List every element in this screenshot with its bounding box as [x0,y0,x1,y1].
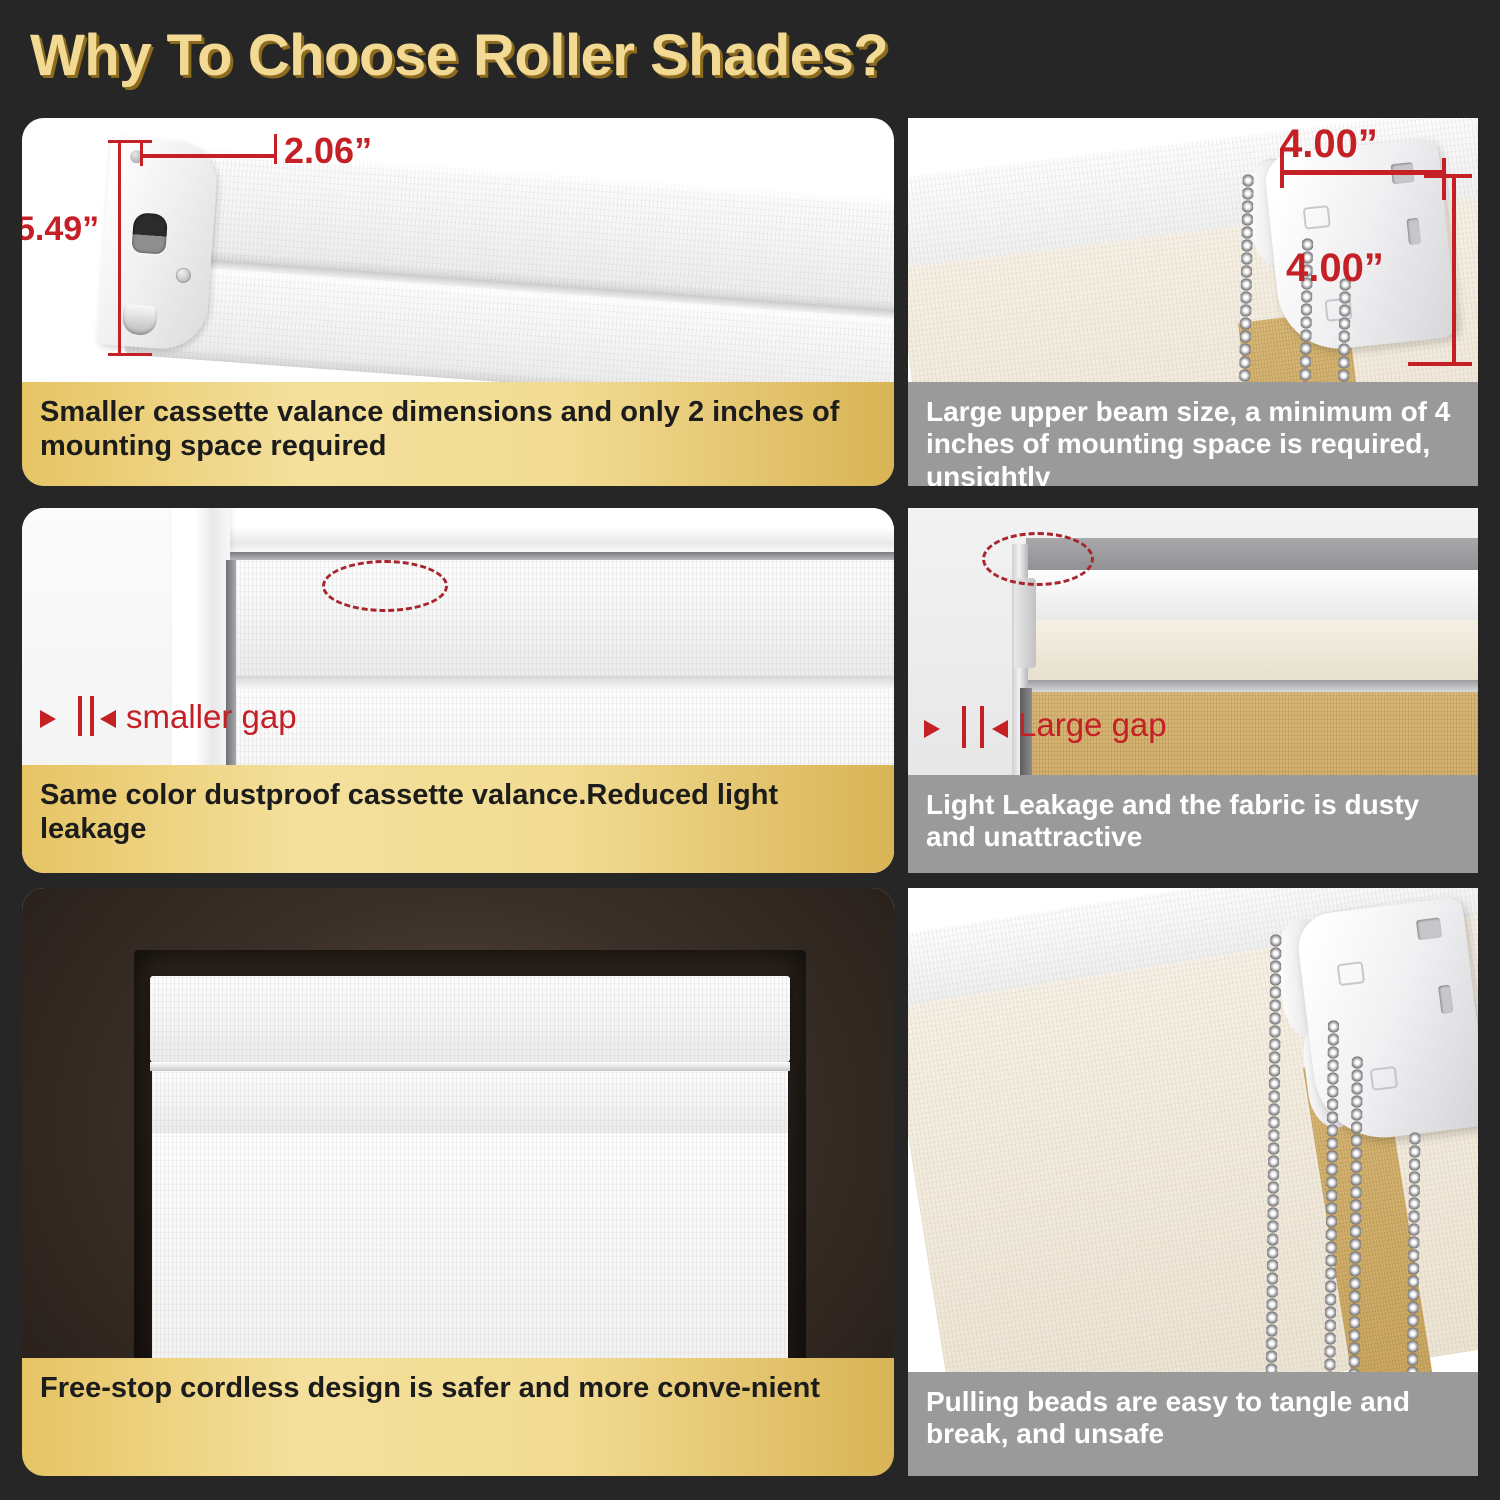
height-dim-tick-bottom [108,353,152,356]
bracket-emboss-lower [1370,1066,1398,1091]
bracket-notch-mid [1438,985,1453,1014]
bracket-notch-top [1416,917,1442,940]
gap-arrow-left [924,720,940,738]
gap-arrow-left [40,710,56,728]
valance-divider-bar [232,676,894,690]
end-cap-screw-mid [175,267,191,283]
caption-top-left: Smaller cassette valance dimensions and … [22,382,894,486]
headrail-seam [150,1062,790,1071]
width-dim-line [140,154,276,158]
gap-tick-b [90,696,94,736]
caption-bottom-right: Pulling beads are easy to tangle and bre… [908,1372,1478,1476]
gap-arrow-right [992,720,1008,738]
valance-end-cap [97,136,219,351]
beam-width-label: 4.00” [1280,122,1378,167]
highlight-ellipse [982,532,1094,586]
valance-body [125,144,894,411]
cassette-top-line [230,552,894,560]
gap-tick-b [980,706,984,748]
headrail-flap [152,1071,788,1133]
beam-height-tick-bottom [1408,362,1472,366]
cream-band [1026,620,1478,682]
side-bracket [1014,578,1036,668]
width-dim-tick-right [274,134,277,164]
panel-middle-left: smaller gap Same color dustproof cassett… [22,508,894,873]
caption-middle-left: Same color dustproof cassette valance.Re… [22,765,894,873]
height-dim-label: 5.49” [22,210,99,249]
caption-bottom-left: Free-stop cordless design is safer and m… [22,1358,894,1476]
panel-top-left: 5.49” 2.06” Smaller cassette valance dim… [22,118,894,486]
cassette-headrail [150,976,790,1062]
bracket-emboss-upper [1303,205,1331,230]
width-dim-tick-left [140,140,143,166]
end-cap-slot [131,212,168,254]
panel-top-right: 4.00” 4.00” Large upper beam size, a min… [908,118,1478,486]
gap-tick-a [962,706,966,748]
gap-tick-a [78,696,82,736]
window-casing-top [172,508,894,552]
panel-bottom-right: Pulling beads are easy to tangle and bre… [908,888,1478,1476]
panel-bottom-left: Free-stop cordless design is safer and m… [22,888,894,1476]
bottom-rail [1026,680,1478,692]
caption-top-right: Large upper beam size, a minimum of 4 in… [908,382,1478,486]
comparison-grid: 5.49” 2.06” Smaller cassette valance dim… [0,0,1500,1500]
gap-arrow-right [100,710,116,728]
height-dim-tick-top [108,140,152,143]
end-cap-knob [122,304,158,336]
beam-width-dim-line [1280,170,1446,175]
beam-height-dim-line [1452,176,1456,366]
beam-width-tick-right [1442,158,1446,200]
panel-middle-right: Large gap Light Leakage and the fabric i… [908,508,1478,873]
height-dim-line [118,140,121,356]
white-valance [1026,570,1478,626]
beam-height-label: 4.00” [1286,246,1384,291]
caption-middle-right: Light Leakage and the fabric is dusty an… [908,775,1478,873]
bracket-notch-mid [1406,218,1421,245]
highlight-ellipse [322,560,448,612]
bracket-emboss-upper [1337,961,1365,986]
smaller-gap-label: smaller gap [126,698,297,736]
large-gap-label: Large gap [1018,706,1167,744]
width-dim-label: 2.06” [284,130,372,172]
beam-height-tick-top [1424,174,1472,178]
